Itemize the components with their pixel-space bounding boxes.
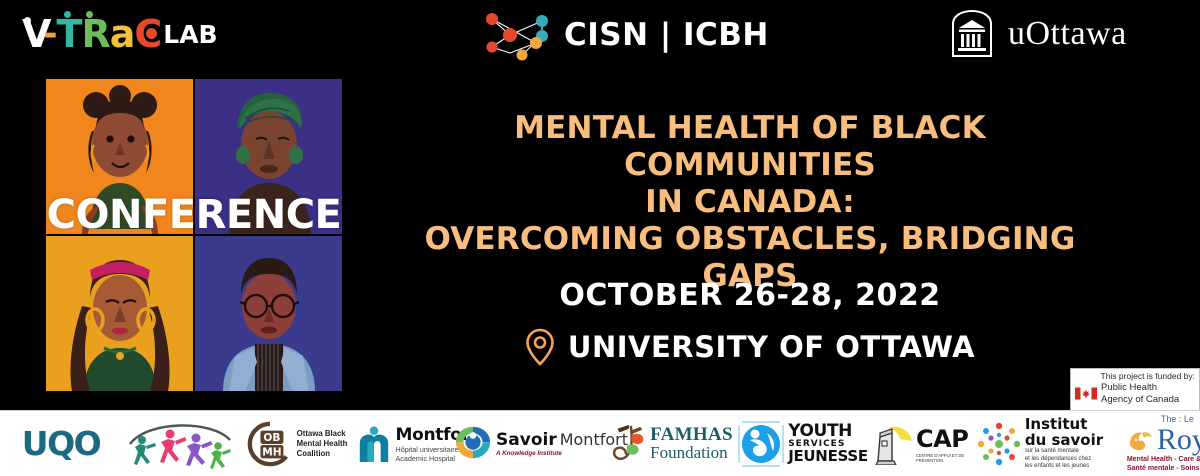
uottawa-crest-icon — [950, 10, 994, 58]
conference-venue: UNIVERSITY OF OTTAWA — [390, 328, 1110, 366]
sponsor-the-royal[interactable]: The : Le Royal Mental Health - Care & Re… — [1110, 411, 1200, 476]
institut-sub-1: sur la santé mentale — [1025, 448, 1103, 456]
title-line-3: OVERCOMING OBSTACLES, BRIDGING — [390, 221, 1110, 258]
conference-title: MENTAL HEALTH OF BLACK COMMUNITIES IN CA… — [390, 110, 1110, 295]
famhas-line-1: FAMHAS — [650, 425, 733, 444]
cap-lighthouse-icon — [870, 423, 914, 465]
youth-line-1: YOUTH — [788, 423, 868, 439]
obmh-line-1: Ottawa Black — [297, 429, 348, 439]
vtrac-dot-white — [24, 17, 31, 24]
sponsor-youth-services-jeunesse[interactable]: YOUTH SERVICES JEUNESSE — [735, 411, 870, 476]
conference-label: CONFERENCE — [46, 192, 342, 238]
royal-block: The : Le Royal Mental Health - Care & Re… — [1127, 414, 1200, 473]
portrait-man-glasses — [195, 236, 342, 391]
vtrac-dot-teal — [64, 11, 71, 18]
institut-line-1: Institut — [1025, 416, 1103, 432]
sponsor-runners[interactable] — [122, 411, 237, 476]
royal-wordmark-row: Royal — [1127, 424, 1200, 455]
royal-bird-icon — [1127, 427, 1153, 453]
conference-banner: V - T R a C LAB — [0, 0, 1200, 476]
institut-sub-3: les enfants et les jeunes — [1025, 463, 1103, 471]
vtrac-lab-suffix: LAB — [163, 20, 217, 49]
vtrac-letter-dash: - — [43, 15, 56, 53]
funder-intro-text: This project is funded by: — [1075, 371, 1195, 382]
obmh-monogram-icon: OB MH — [247, 421, 293, 467]
title-line-1: MENTAL HEALTH OF BLACK COMMUNITIES — [390, 110, 1110, 184]
youth-name-block: YOUTH SERVICES JEUNESSE — [788, 423, 868, 464]
royal-sub-fr: Santé mentale - Soins et recherche — [1127, 464, 1200, 473]
vtrac-letter-a: a — [110, 15, 135, 53]
location-pin-icon — [525, 328, 555, 366]
sponsor-savoir-montfort[interactable]: Savoir Montfort A Knowledge Institute — [477, 411, 605, 476]
sponsor-logo-strip: UQO — [0, 410, 1200, 476]
famhas-name-block: FAMHAS Foundation — [650, 425, 733, 462]
funder-agency-line2: Agency of Canada — [1101, 394, 1179, 406]
cap-name-block: CAP CENTRE D'APPUI ET DE PREVENTION — [916, 425, 970, 463]
obmh-name-block: Ottawa Black Mental Health Coalition — [297, 429, 348, 459]
portrait-3-illustration — [46, 236, 193, 391]
title-line-2: IN CANADA: — [390, 184, 1110, 221]
youth-services-circle-icon — [737, 420, 785, 468]
cap-tagline: CENTRE D'APPUI ET DE PREVENTION — [916, 453, 970, 463]
uottawa-logo[interactable]: uOttawa — [950, 10, 1127, 58]
funder-agency-block: Public Health Agency of Canada — [1075, 382, 1195, 405]
savoir-word-bold: Savoir — [496, 430, 557, 450]
royal-wordmark: Royal — [1157, 424, 1200, 455]
conference-date: OCTOBER 26-28, 2022 — [390, 278, 1110, 313]
sponsor-institut-du-savoir[interactable]: Institut du savoir sur la santé mentale … — [970, 411, 1110, 476]
royal-sub-en: Mental Health - Care & Research — [1127, 455, 1200, 464]
montfort-m-icon — [357, 426, 391, 462]
institut-burst-icon — [977, 422, 1021, 466]
sponsor-uqo[interactable]: UQO — [0, 411, 122, 476]
venue-text: UNIVERSITY OF OTTAWA — [568, 330, 975, 364]
svg-text:MH: MH — [262, 446, 281, 458]
savoir-montfort-icon — [454, 425, 492, 463]
cap-wordmark: CAP — [916, 425, 970, 453]
portrait-woman-curly-hair — [46, 236, 193, 391]
network-graph-icon — [480, 8, 554, 62]
running-figures-icon — [126, 418, 234, 470]
obmh-line-2: Mental Health — [297, 439, 348, 449]
sponsor-cap[interactable]: CAP CENTRE D'APPUI ET DE PREVENTION — [870, 411, 970, 476]
svg-text:OB: OB — [263, 432, 280, 444]
vtrac-letter-r: R — [81, 12, 109, 56]
uottawa-wordmark: uOttawa — [1008, 15, 1127, 53]
vtrac-lab-logo[interactable]: V - T R a C LAB — [22, 12, 218, 56]
header-logo-row: V - T R a C LAB — [0, 0, 1200, 72]
institut-name-block: Institut du savoir sur la santé mentale … — [1025, 416, 1103, 471]
institut-line-2: du savoir — [1025, 432, 1103, 448]
sponsor-famhas[interactable]: FAMHAS Foundation — [605, 411, 735, 476]
funder-agency-name: Public Health Agency of Canada — [1101, 382, 1179, 405]
canada-flag-icon — [1075, 387, 1097, 400]
cisn-icbh-logo[interactable]: CISN | ICBH — [480, 8, 769, 62]
uqo-wordmark: UQO — [22, 424, 100, 463]
cisn-icbh-wordmark: CISN | ICBH — [564, 17, 769, 53]
famhas-leaf-icon — [607, 423, 647, 465]
portrait-4-illustration — [195, 236, 342, 391]
obmh-line-3: Coalition — [297, 449, 348, 459]
funder-agency-line1: Public Health — [1101, 382, 1179, 394]
sponsor-obmh[interactable]: OB MH Ottawa Black Mental Health Coaliti… — [237, 411, 357, 476]
institut-sub-2: et les dépendances chez — [1025, 456, 1103, 464]
youth-line-3: JEUNESSE — [788, 449, 868, 464]
vtrac-letter-t: T — [57, 12, 82, 56]
funder-notice: This project is funded by: Public Health… — [1070, 368, 1200, 412]
famhas-line-2: Foundation — [650, 444, 733, 462]
